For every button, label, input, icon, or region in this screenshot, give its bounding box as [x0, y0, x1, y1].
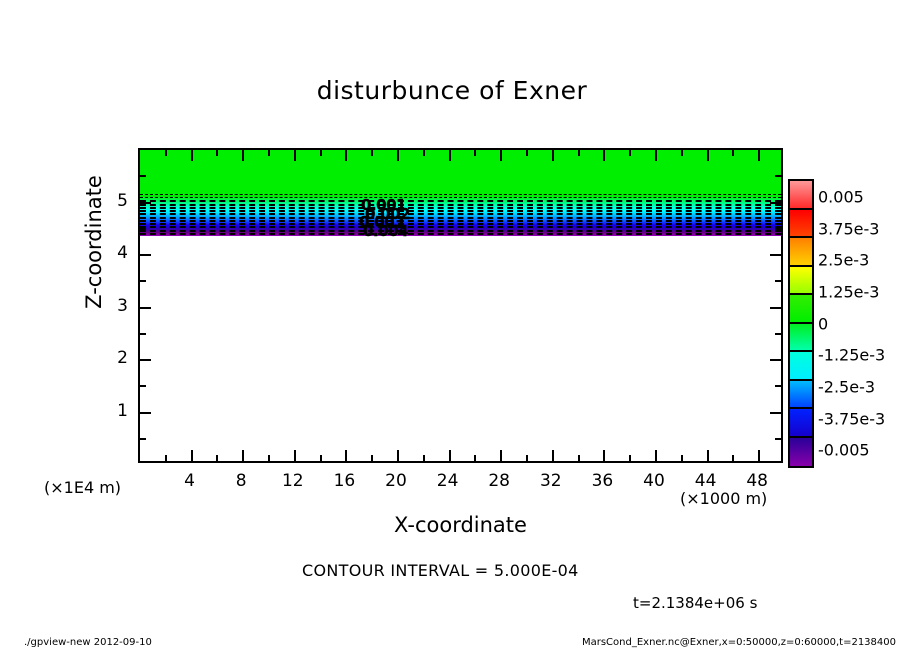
y-tick-mark: [140, 175, 146, 177]
x-tick-mark: [216, 455, 218, 461]
y-axis-title: Z-coordinate: [82, 142, 106, 342]
y-axis-unit: (×1E4 m): [44, 478, 121, 497]
x-tick-mark: [268, 455, 270, 461]
y-tick-mark: [775, 438, 781, 440]
x-tick-label: 40: [643, 471, 665, 491]
x-tick-mark: [345, 150, 347, 161]
field-color-gradient: [140, 150, 781, 236]
y-tick-mark: [775, 175, 781, 177]
y-tick-mark: [140, 438, 146, 440]
colorbar-tick-label: -0.005: [818, 441, 870, 460]
x-tick-mark: [371, 150, 373, 156]
x-tick-label: 20: [385, 471, 407, 491]
y-tick-mark: [140, 228, 146, 230]
x-tick-mark: [191, 150, 193, 161]
x-tick-mark: [474, 150, 476, 156]
x-tick-mark: [242, 450, 244, 461]
y-tick-mark: [770, 359, 781, 361]
x-tick-mark: [397, 450, 399, 461]
contour-interval-note: CONTOUR INTERVAL = 5.000E-04: [302, 561, 579, 580]
x-tick-mark: [707, 150, 709, 161]
y-tick-mark: [770, 202, 781, 204]
colorbar-tick-label: 1.25e-3: [818, 282, 879, 301]
x-tick-mark: [758, 450, 760, 461]
x-tick-label: 36: [592, 471, 614, 491]
x-tick-mark: [681, 455, 683, 461]
y-tick-mark: [770, 307, 781, 309]
y-tick-mark: [775, 385, 781, 387]
y-tick-mark: [140, 385, 146, 387]
x-tick-mark: [345, 450, 347, 461]
x-tick-mark: [603, 450, 605, 461]
colorbar-tick-label: 3.75e-3: [818, 219, 879, 238]
x-tick-mark: [552, 150, 554, 161]
y-tick-mark: [140, 333, 146, 335]
colorbar-tick-label: 0: [818, 314, 828, 333]
colorbar-tick-label: -3.75e-3: [818, 409, 885, 428]
x-tick-mark: [371, 455, 373, 461]
x-tick-mark: [655, 150, 657, 161]
x-tick-mark: [681, 150, 683, 156]
x-tick-mark: [449, 150, 451, 161]
x-tick-mark: [397, 150, 399, 161]
footer-source: MarsCond_Exner.nc@Exner,x=0:50000,z=0:60…: [582, 637, 896, 648]
footer-command: ./gpview-new 2012-09-10: [24, 637, 152, 648]
x-tick-mark: [552, 450, 554, 461]
y-tick-mark: [775, 280, 781, 282]
x-tick-mark: [294, 150, 296, 161]
colorbar-band: [790, 438, 812, 467]
x-tick-mark: [578, 150, 580, 156]
x-tick-mark: [526, 455, 528, 461]
x-tick-mark: [423, 150, 425, 156]
x-tick-mark: [500, 150, 502, 161]
x-tick-mark: [191, 450, 193, 461]
x-tick-label: 24: [437, 471, 459, 491]
y-tick-mark: [140, 254, 151, 256]
x-tick-label: 32: [540, 471, 562, 491]
x-tick-mark: [268, 150, 270, 156]
page-title: disturbunce of Exner: [0, 76, 904, 105]
y-tick-label: 1: [104, 401, 128, 421]
y-tick-mark: [775, 333, 781, 335]
x-tick-mark: [294, 450, 296, 461]
contour-field: [140, 150, 781, 236]
y-tick-mark: [775, 228, 781, 230]
colorbar-band: [790, 295, 812, 324]
colorbar-tick-label: 2.5e-3: [818, 251, 869, 270]
x-axis-unit: (×1000 m): [680, 489, 767, 508]
x-tick-mark: [603, 150, 605, 161]
time-stamp-note: t=2.1384e+06 s: [633, 594, 757, 612]
x-tick-mark: [165, 455, 167, 461]
x-tick-label: 16: [334, 471, 356, 491]
x-tick-label: 12: [282, 471, 304, 491]
x-tick-mark: [629, 455, 631, 461]
colorbar-band: [790, 324, 812, 353]
y-tick-mark: [140, 307, 151, 309]
y-tick-mark: [140, 359, 151, 361]
x-tick-mark: [320, 455, 322, 461]
x-tick-mark: [474, 455, 476, 461]
colorbar: [788, 179, 814, 468]
y-tick-label: 2: [104, 348, 128, 368]
x-tick-label: 44: [695, 471, 717, 491]
colorbar-band: [790, 238, 812, 267]
x-tick-mark: [655, 450, 657, 461]
colorbar-band: [790, 181, 812, 210]
x-tick-mark: [732, 150, 734, 156]
y-tick-label: 3: [104, 296, 128, 316]
y-tick-label: 4: [104, 243, 128, 263]
x-axis-title: X-coordinate: [138, 513, 783, 537]
y-tick-mark: [140, 280, 146, 282]
x-tick-mark: [242, 150, 244, 161]
x-tick-mark: [629, 150, 631, 156]
x-tick-mark: [707, 450, 709, 461]
y-tick-label: 5: [104, 191, 128, 211]
colorbar-band: [790, 210, 812, 239]
x-tick-mark: [732, 455, 734, 461]
x-tick-mark: [165, 150, 167, 156]
colorbar-band: [790, 352, 812, 381]
x-tick-mark: [526, 150, 528, 156]
colorbar-tick-label: -1.25e-3: [818, 346, 885, 365]
y-tick-mark: [140, 412, 151, 414]
x-tick-label: 48: [746, 471, 768, 491]
plot-area: 0.001 0.002 0.003 0.004: [138, 148, 783, 463]
x-tick-mark: [758, 150, 760, 161]
colorbar-tick-label: 0.005: [818, 187, 864, 206]
x-tick-mark: [500, 450, 502, 461]
y-tick-mark: [770, 412, 781, 414]
x-tick-mark: [423, 455, 425, 461]
x-tick-label: 8: [236, 471, 247, 491]
x-tick-mark: [216, 150, 218, 156]
x-tick-label: 28: [488, 471, 510, 491]
x-tick-mark: [578, 455, 580, 461]
x-tick-mark: [320, 150, 322, 156]
y-tick-mark: [140, 202, 151, 204]
x-tick-label: 4: [184, 471, 195, 491]
y-tick-mark: [770, 254, 781, 256]
x-tick-mark: [449, 450, 451, 461]
colorbar-band: [790, 409, 812, 438]
colorbar-tick-label: -2.5e-3: [818, 377, 875, 396]
colorbar-band: [790, 267, 812, 296]
colorbar-band: [790, 381, 812, 410]
